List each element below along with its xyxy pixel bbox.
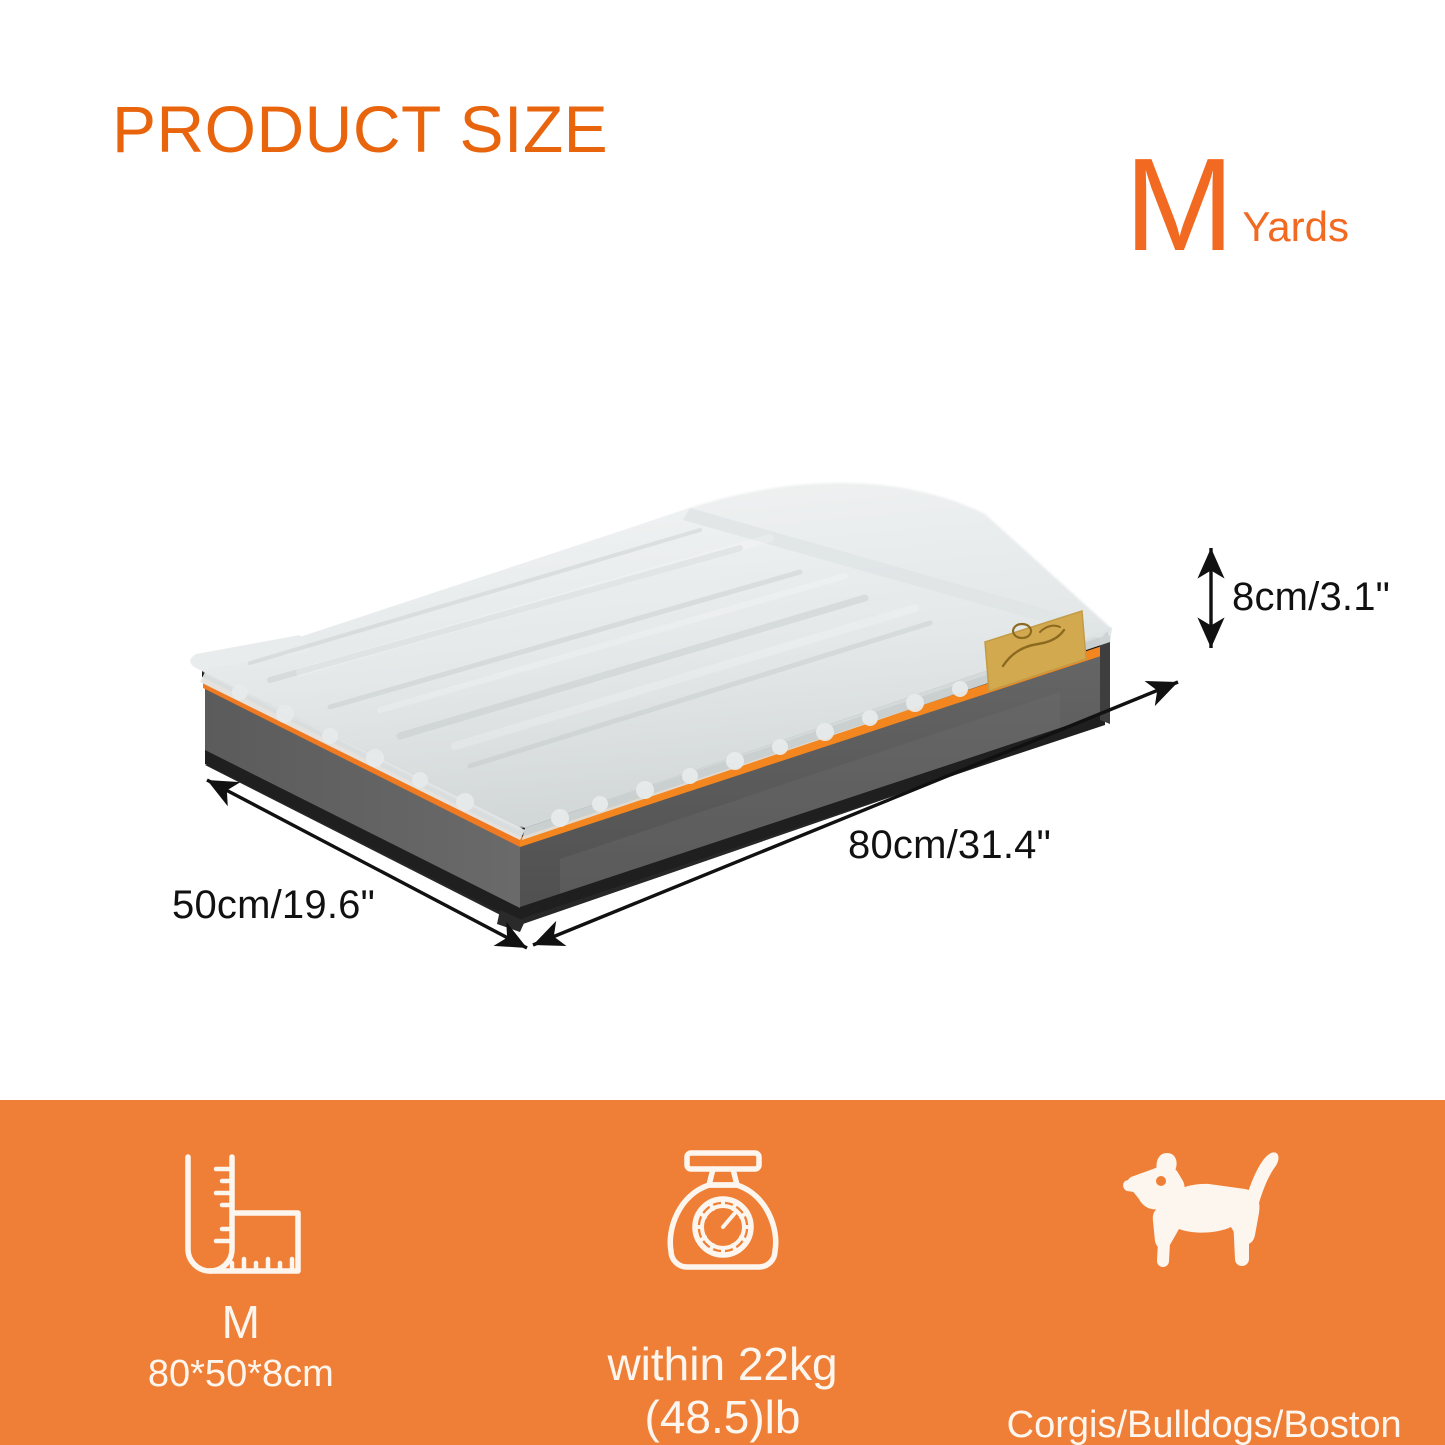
- features-band: M 80*50*8cm: [0, 1100, 1445, 1445]
- size-letter: M: [1124, 148, 1232, 262]
- feature-breeds-sub: Corgis/Bulldogs/Boston: [963, 1400, 1445, 1445]
- ruler-icon: [166, 1152, 316, 1282]
- size-badge: M Yards: [1124, 148, 1349, 262]
- feature-breeds-text: Corgis/Bulldogs/Boston: [963, 1400, 1445, 1445]
- length-dimension-label: 80cm/31.4": [848, 823, 1051, 868]
- feature-size: M 80*50*8cm: [0, 1100, 482, 1445]
- feature-breeds: Corgis/Bulldogs/Boston: [963, 1100, 1445, 1445]
- feature-weight: within 22kg (48.5)lb: [482, 1100, 964, 1445]
- product-size-infographic: PRODUCT SIZE M Yards: [0, 0, 1445, 1445]
- size-word-label: Yards: [1242, 206, 1349, 262]
- feature-size-text: M 80*50*8cm: [0, 1296, 482, 1400]
- height-dimension-label: 8cm/3.1": [1232, 575, 1390, 620]
- weighing-scale-icon: [653, 1152, 793, 1282]
- feature-size-sub: 80*50*8cm: [0, 1349, 482, 1400]
- feature-weight-sub: (48.5)lb: [482, 1391, 964, 1444]
- feature-weight-text: within 22kg (48.5)lb: [482, 1338, 964, 1444]
- page-title: PRODUCT SIZE: [112, 96, 608, 162]
- dog-icon: [1109, 1152, 1299, 1282]
- width-dimension-label: 50cm/19.6": [172, 883, 375, 928]
- feature-size-main: M: [0, 1296, 482, 1349]
- feature-weight-main: within 22kg: [482, 1338, 964, 1391]
